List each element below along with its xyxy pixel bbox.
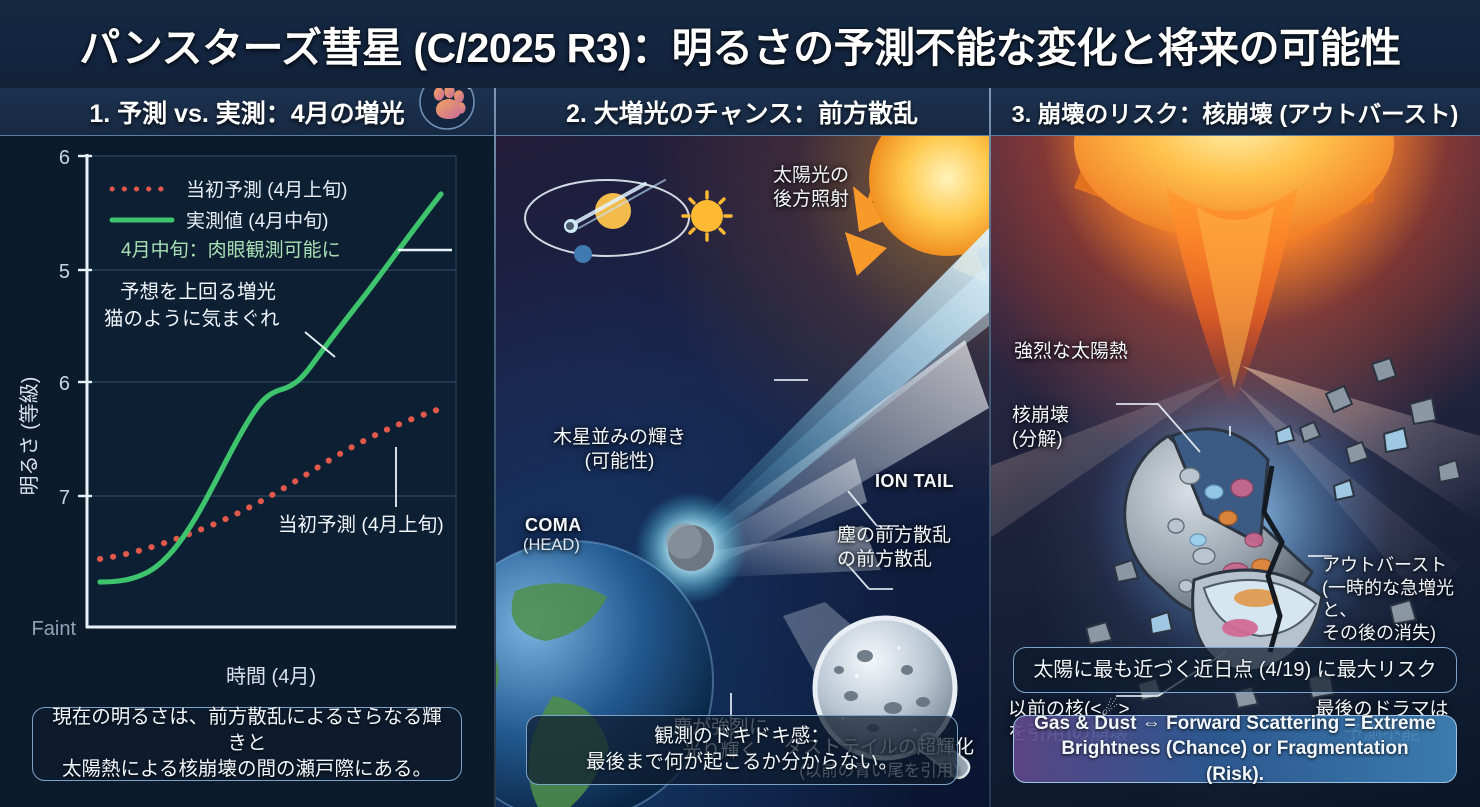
label-jupiter-bright: 木星並みの輝き (可能性) (553, 426, 686, 474)
panel-divider (989, 88, 991, 807)
panel-3-caption: Gas & Dust ⇔ Forward Scattering = Extrem… (1013, 715, 1457, 783)
perihelion-risk-text: 太陽に最も近づく近日点 (4/19) に最大リスク (1033, 657, 1436, 683)
panel-fragmentation-risk: 3. 崩壊のリスク：核崩壊 (アウトバースト) (990, 88, 1480, 807)
label-ion-tail: ION TAIL (875, 470, 954, 493)
infographic-root: パンスターズ彗星 (C/2025 R3)：明るさの予測不能な変化と将来の可能性 … (0, 0, 1480, 807)
paw-print-comet-icon (414, 88, 480, 132)
label-solar-heat: 強烈な太陽熱 (1014, 340, 1128, 364)
page-title: パンスターズ彗星 (C/2025 R3)：明るさの予測不能な変化と将来の可能性 (79, 14, 1400, 74)
annotation-rise-line2: 猫のように気まぐれ (104, 308, 280, 330)
panel-3-body: 強烈な太陽熱 核崩壊 (分解) アウトバースト (一時的な急増光と、 その後の消… (990, 136, 1480, 807)
y-tick-2: 6 (59, 373, 70, 395)
label-coma: COMA (525, 514, 582, 537)
y-tick-1: 5 (59, 261, 70, 283)
panel-2-caption-text: 観測のドキドキ感： 最後まで何が起こるか分からない。 (586, 724, 898, 775)
panel-1-caption: 現在の明るさは、前方散乱によるさらなる輝きと 太陽熱による核崩壊の間の瀬戸際にあ… (32, 707, 462, 781)
header-bar: パンスターズ彗星 (C/2025 R3)：明るさの予測不能な変化と将来の可能性 (0, 0, 1480, 88)
x-axis-title: 時間 (4月) (226, 665, 316, 688)
label-coma-sub: (HEAD) (523, 535, 580, 556)
panel-3-title: 3. 崩壊のリスク：核崩壊 (アウトバースト) (1012, 95, 1459, 129)
label-nucleus-collapse: 核崩壊 (分解) (1012, 404, 1069, 452)
panel-1-header: 1. 予測 vs. 実測：4月の増光 (0, 88, 494, 136)
panel-1-caption-text: 現在の明るさは、前方散乱によるさらなる輝きと 太陽熱による核崩壊の間の瀬戸際にあ… (49, 705, 445, 782)
legend-label-forecast: 当初予測 (4月上旬) (186, 179, 348, 201)
panel-2-body: 太陽光の 後方照射 木星並みの輝き (可能性) COMA (HEAD) ION … (495, 136, 989, 807)
annotation-naked-eye: 4月中旬：肉眼観測可能に (121, 239, 341, 261)
y-tick-3: 7 (59, 487, 70, 509)
panel-1-title: 1. 予測 vs. 実測：4月の増光 (89, 94, 404, 130)
orbit-diagram (525, 180, 731, 263)
panel-3-header: 3. 崩壊のリスク：核崩壊 (アウトバースト) (990, 88, 1480, 136)
y-tick-0: 6 (59, 147, 70, 169)
panel-1-body: 6 5 6 7 Faint 明るさ (等級) 時間 (4月) (0, 136, 494, 807)
panel-2-caption: 観測のドキドキ感： 最後まで何が起こるか分からない。 (526, 715, 958, 785)
panel-2-header: 2. 大増光のチャンス：前方散乱 (495, 88, 989, 136)
label-dust-forward: 塵の前方散乱 の前方散乱 (837, 524, 951, 572)
annotation-rise-line1: 予想を上回る増光 (120, 281, 276, 303)
legend-label-observed: 実測値 (4月中旬) (186, 210, 329, 232)
annotation-forecast-label: 当初予測 (4月上旬) (278, 514, 444, 536)
panel-2-title: 2. 大増光のチャンス：前方散乱 (566, 94, 918, 130)
label-backlight: 太陽光の 後方照射 (773, 164, 849, 212)
panel-divider (494, 88, 496, 807)
y-axis-faint-label: Faint (32, 618, 77, 640)
y-axis-title: 明るさ (等級) (18, 377, 41, 496)
label-outburst: アウトバースト (一時的な急増光と、 その後の消失) (1322, 554, 1480, 644)
panel-3-caption-text: Gas & Dust ⇔ Forward Scattering = Extrem… (1030, 711, 1440, 786)
panel-forward-scattering: 2. 大増光のチャンス：前方散乱 (495, 88, 989, 807)
perihelion-risk-pill: 太陽に最も近づく近日点 (4/19) に最大リスク (1013, 647, 1457, 693)
panel-prediction-vs-observation: 1. 予測 vs. 実測：4月の増光 (0, 88, 494, 807)
orbit-sun-icon (683, 192, 731, 240)
